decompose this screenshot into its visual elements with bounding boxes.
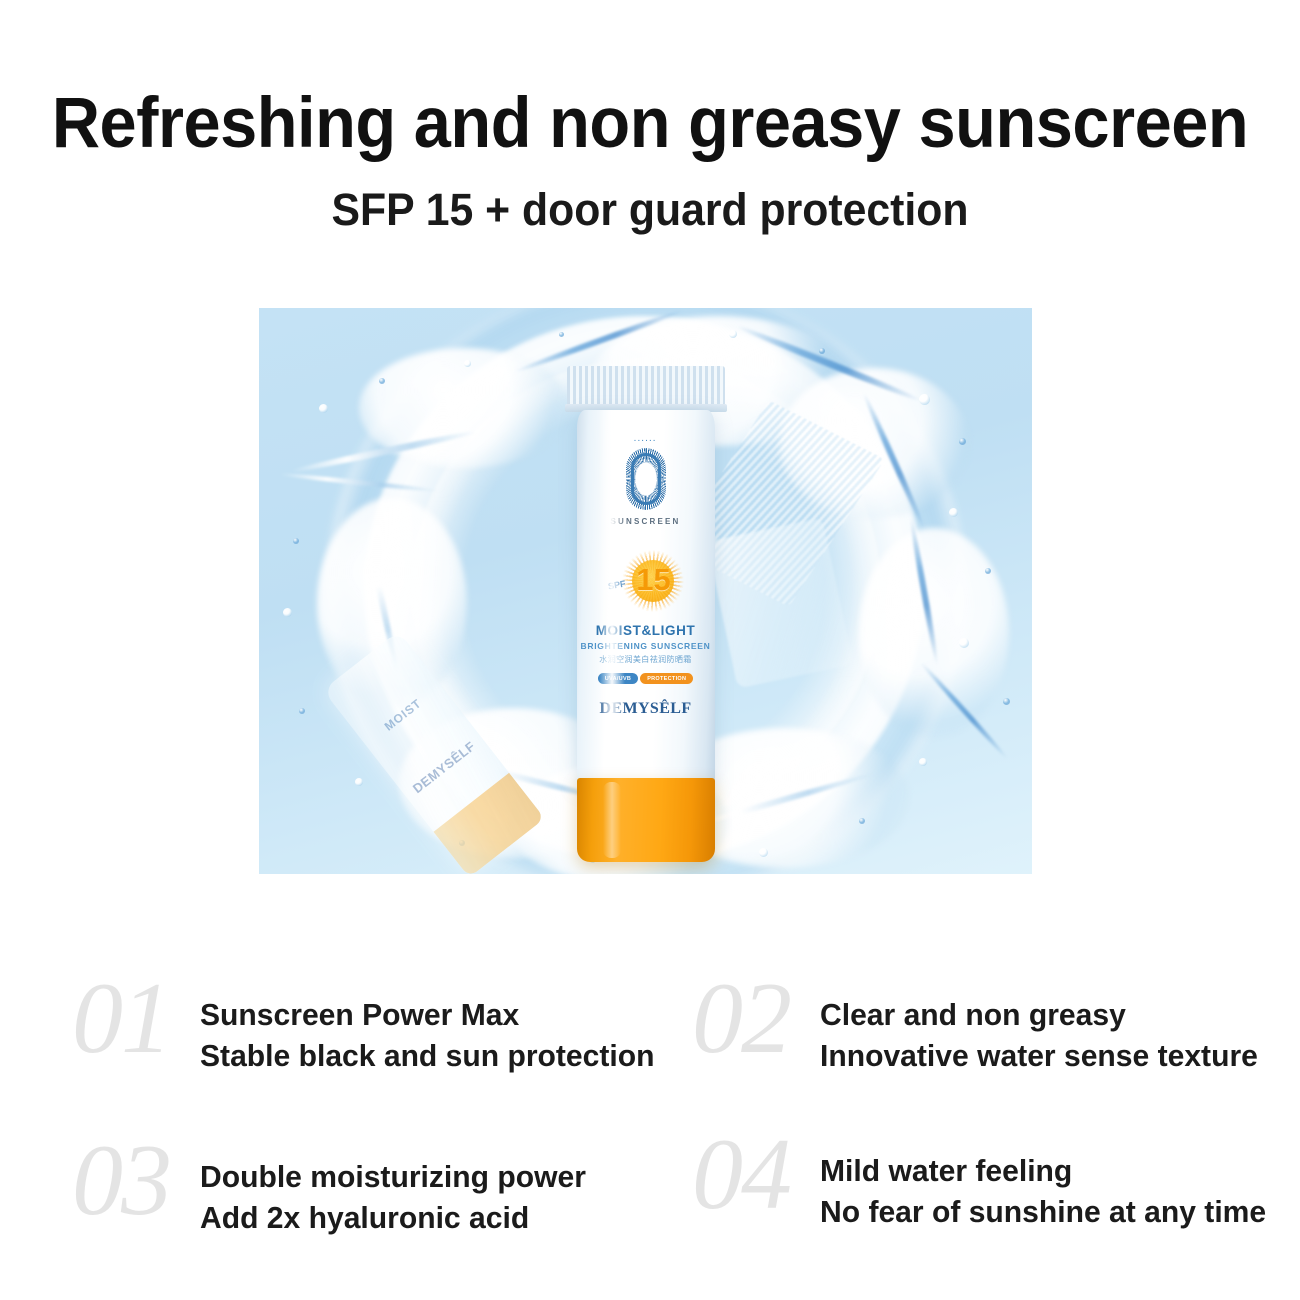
water-droplet <box>355 778 363 786</box>
water-droplet <box>1003 698 1010 705</box>
water-droplet <box>919 758 927 766</box>
water-droplet <box>283 608 292 617</box>
tube-label: ······ SUNSCREEN 15 SPF MOIST&LIGHT BRIG… <box>577 410 715 786</box>
feature-item-04: 04 Mild water feeling No fear of sunshin… <box>692 1128 1300 1232</box>
water-droplet <box>959 638 969 648</box>
water-droplet <box>819 348 825 354</box>
feature-line-2: Add 2x hyaluronic acid <box>200 1197 586 1238</box>
logo-sunscreen-word: SUNSCREEN <box>577 517 715 526</box>
feature-text: Sunscreen Power Max Stable black and sun… <box>200 972 654 1076</box>
feature-line-1: Double moisturizing power <box>200 1159 586 1194</box>
feature-item-01: 01 Sunscreen Power Max Stable black and … <box>72 972 692 1076</box>
product-tube: ······ SUNSCREEN 15 SPF MOIST&LIGHT BRIG… <box>563 366 729 868</box>
feature-number: 01 <box>72 972 200 1066</box>
water-droplet <box>319 404 328 413</box>
feature-number: 02 <box>692 972 820 1066</box>
feature-text: Double moisturizing power Add 2x hyaluro… <box>200 1134 586 1238</box>
water-droplet <box>949 508 958 517</box>
water-droplet <box>985 568 991 574</box>
feature-line-2: Innovative water sense texture <box>820 1035 1258 1076</box>
feature-line-1: Mild water feeling <box>820 1153 1072 1188</box>
ghost-tube-line: MOIST <box>361 680 445 750</box>
hero-product-image: MOIST DEMYSÊLF ······ SUNSCREEN 15 SPF <box>259 308 1032 874</box>
brand-logo-icon <box>626 448 666 510</box>
water-droplet <box>759 848 768 857</box>
header-block: Refreshing and non greasy sunscreen SFP … <box>0 86 1300 234</box>
badge-protection: PROTECTION <box>640 673 693 684</box>
product-marketing-page: Refreshing and non greasy sunscreen SFP … <box>0 0 1300 1300</box>
water-droplet <box>293 538 299 544</box>
water-droplet <box>299 708 305 714</box>
spf-value: 15 <box>628 559 680 601</box>
label-brightening-sunscreen: BRIGHTENING SUNSCREEN <box>577 641 715 651</box>
page-headline: Refreshing and non greasy sunscreen <box>39 86 1261 163</box>
feature-grid: 01 Sunscreen Power Max Stable black and … <box>0 962 1300 1282</box>
feature-line-2: No fear of sunshine at any time <box>820 1191 1266 1232</box>
feature-line-1: Sunscreen Power Max <box>200 997 519 1032</box>
water-droplet <box>729 330 737 338</box>
spf-sun-badge: 15 SPF <box>608 550 684 614</box>
feature-text: Clear and non greasy Innovative water se… <box>820 972 1258 1076</box>
water-droplet <box>859 818 865 824</box>
uv-protection-badges: UVA/UVB PROTECTION <box>577 673 715 684</box>
tube-orange-cap <box>577 778 715 862</box>
feature-number: 04 <box>692 1128 820 1222</box>
feature-number: 03 <box>72 1134 200 1228</box>
logo-dots-decoration: ······ <box>577 438 715 445</box>
feature-line-1: Clear and non greasy <box>820 997 1126 1032</box>
feature-line-2: Stable black and sun protection <box>200 1035 654 1076</box>
tube-body: ······ SUNSCREEN 15 SPF MOIST&LIGHT BRIG… <box>577 410 715 786</box>
water-droplet <box>959 438 966 445</box>
tube-crimp-seal <box>567 366 725 406</box>
label-chinese-text: 水润空润美白祛润防晒霜 <box>577 654 715 665</box>
water-droplet <box>919 394 930 405</box>
feature-item-03: 03 Double moisturizing power Add 2x hyal… <box>72 1134 692 1238</box>
badge-uva-uvb: UVA/UVB <box>598 673 638 684</box>
spf-label: SPF <box>607 579 626 592</box>
label-moist-light: MOIST&LIGHT <box>577 623 715 638</box>
page-subheadline: SFP 15 + door guard protection <box>33 185 1268 235</box>
water-droplet <box>559 332 564 337</box>
water-droplet <box>464 360 471 367</box>
feature-text: Mild water feeling No fear of sunshine a… <box>820 1128 1266 1232</box>
water-droplet <box>379 378 385 384</box>
feature-item-02: 02 Clear and non greasy Innovative water… <box>692 972 1300 1076</box>
ghost-tube-brand: DEMYSÊLF <box>401 732 486 803</box>
brand-name: DEMYSÊLF <box>577 700 715 718</box>
